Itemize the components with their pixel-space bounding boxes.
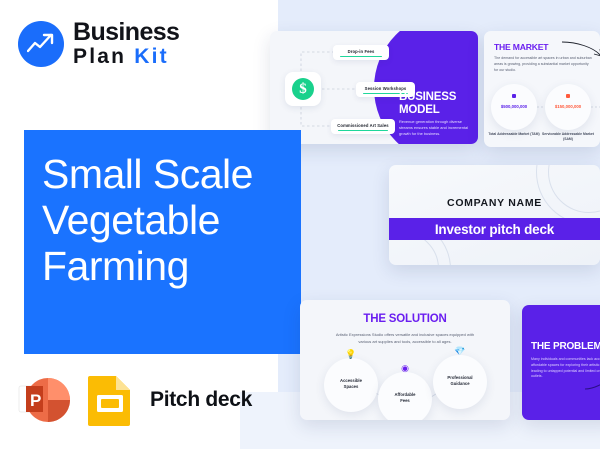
pitch-deck-label: Pitch deck [150,388,252,412]
brand-kit: Kit [134,45,169,68]
google-slides-icon[interactable] [86,374,134,426]
decor-ring [536,165,600,225]
slide-investor-pitch-deck[interactable]: COMPANY NAME Investor pitch deck [389,165,600,265]
brand-line-business: Business [73,20,179,45]
solution-pillar-label-line1: Affordable [395,392,416,397]
format-badges: P Pitch deck [18,372,252,428]
brand-plan: Plan [73,45,126,68]
business-model-item-label: Commissioned Art Sales [331,119,395,128]
lightbulb-icon: 💡 [324,349,378,360]
business-model-description: Revenue generation through diverse strea… [399,119,473,137]
poster-canvas: $ Drop-in Fees Session Workshops Commiss… [0,0,600,449]
business-model-item-label: Session Workshops [356,82,415,91]
powerpoint-letter: P [30,391,41,410]
market-stat-circle: $150,000,000 [545,84,591,130]
market-stat-value: $150,000,000 [545,104,591,109]
brand-logo[interactable]: Business Plan Kit [18,20,179,67]
solution-pillar-label-line1: Accessible [340,378,362,383]
business-model-item[interactable]: Drop-in Fees [333,45,389,60]
powerpoint-icon[interactable]: P [18,372,74,428]
market-stat-dot [512,94,516,98]
market-stat-circle: $500,000,000 [491,84,537,130]
solution-pillar-label: Professional Guidance [433,375,487,388]
business-model-title-line2: MODEL [399,104,440,116]
solution-pillar[interactable]: 💡 Accessible Spaces [324,358,378,412]
market-stat-dot [566,94,570,98]
business-model-title-line1: BUSINESS [399,91,456,103]
hero-line-3: Farming [42,244,292,290]
solution-pillar-label-line2: Spaces [344,384,359,389]
dollar-sign-icon: $ [292,78,314,100]
pitch-subtitle-bar: Investor pitch deck [389,218,600,240]
business-model-item-label: Drop-in Fees [333,45,389,54]
market-stat-caption: Total Addressable Market (TAM) [488,132,540,137]
page-title: Small Scale Vegetable Farming [42,152,292,290]
hero-line-2: Vegetable [42,198,292,244]
problem-swoosh-icon [584,376,600,392]
slide-business-model[interactable]: $ Drop-in Fees Session Workshops Commiss… [270,31,478,144]
solution-pillar[interactable]: ◉ Affordable Fees [378,372,432,420]
circle-target-icon: ◉ [378,363,432,374]
slide-the-market[interactable]: THE MARKET The demand for accessible art… [484,31,600,147]
growth-arrow-icon [18,21,64,67]
brand-logo-text: Business Plan Kit [73,20,179,67]
solution-pillar-label: Accessible Spaces [324,378,378,391]
slide-the-problem[interactable]: THE PROBLEM Many individuals and communi… [522,305,600,420]
pitch-subtitle: Investor pitch deck [435,222,554,237]
solution-pillar-label-line2: Guidance [450,381,469,386]
diamond-icon: 💎 [433,346,487,357]
solution-pillar-label: Affordable Fees [378,392,432,405]
problem-title: THE PROBLEM [531,341,600,352]
dollar-sign-badge: $ [285,72,321,106]
business-model-item[interactable]: Commissioned Art Sales [331,119,395,134]
market-stat-value: $500,000,000 [491,104,537,109]
pitch-company-name: COMPANY NAME [389,197,600,209]
hero-line-1: Small Scale [42,152,292,198]
solution-pillar-label-line2: Fees [400,398,410,403]
solution-pillar-label-line1: Professional [447,375,472,380]
slide-the-solution[interactable]: THE SOLUTION Artistic Expressions Studio… [300,300,510,420]
market-stat-caption: Serviceable Addressable Market (SAM) [542,132,594,142]
business-model-title: BUSINESS MODEL [399,91,477,117]
solution-pillar[interactable]: 💎 Professional Guidance [433,355,487,409]
brand-line-plan-kit: Plan Kit [73,46,179,67]
